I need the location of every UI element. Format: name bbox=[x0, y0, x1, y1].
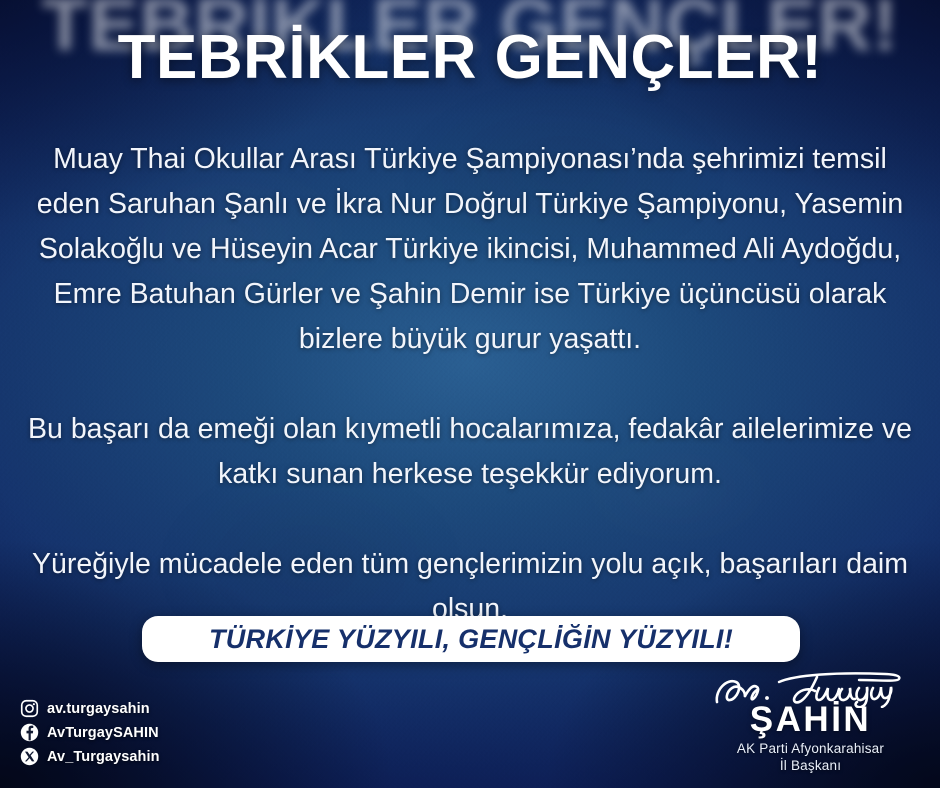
social-item-instagram[interactable]: av.turgaysahin bbox=[20, 699, 160, 718]
instagram-icon bbox=[20, 699, 39, 718]
message-body: Muay Thai Okullar Arası Türkiye Şampiyon… bbox=[18, 137, 922, 632]
slogan-text: TÜRKİYE YÜZYILI, GENÇLİĞİN YÜZYILI! bbox=[209, 624, 733, 655]
x-twitter-handle: Av_Turgaysahin bbox=[47, 749, 160, 765]
poster: TEBRİKLER GENÇLER! TEBRİKLER GENÇLER! Mu… bbox=[0, 0, 940, 788]
social-item-facebook[interactable]: AvTurgaySAHIN bbox=[20, 723, 160, 742]
headline-area: TEBRİKLER GENÇLER! TEBRİKLER GENÇLER! bbox=[0, 0, 940, 118]
signature-title-line-1: AK Parti Afyonkarahisar bbox=[703, 740, 918, 757]
poster-content: TEBRİKLER GENÇLER! TEBRİKLER GENÇLER! Mu… bbox=[0, 0, 940, 788]
signature-block: ŞAHİN AK Parti Afyonkarahisar İl Başkanı bbox=[703, 666, 918, 774]
facebook-handle: AvTurgaySAHIN bbox=[47, 725, 159, 741]
slogan-banner: TÜRKİYE YÜZYILI, GENÇLİĞİN YÜZYILI! bbox=[142, 616, 800, 662]
paragraph-thanks: Bu başarı da emeği olan kıymetli hocalar… bbox=[18, 407, 922, 497]
social-item-x-twitter[interactable]: Av_Turgaysahin bbox=[20, 747, 160, 766]
social-handles-list: av.turgaysahin AvTurgaySAHIN bbox=[20, 699, 160, 766]
paragraph-achievements: Muay Thai Okullar Arası Türkiye Şampiyon… bbox=[18, 137, 922, 362]
signature-script-name bbox=[703, 666, 918, 706]
facebook-icon bbox=[20, 723, 39, 742]
page-title: TEBRİKLER GENÇLER! bbox=[0, 27, 940, 89]
x-twitter-icon bbox=[20, 747, 39, 766]
instagram-handle: av.turgaysahin bbox=[47, 701, 150, 717]
signature-title-line-2: İl Başkanı bbox=[703, 757, 918, 774]
